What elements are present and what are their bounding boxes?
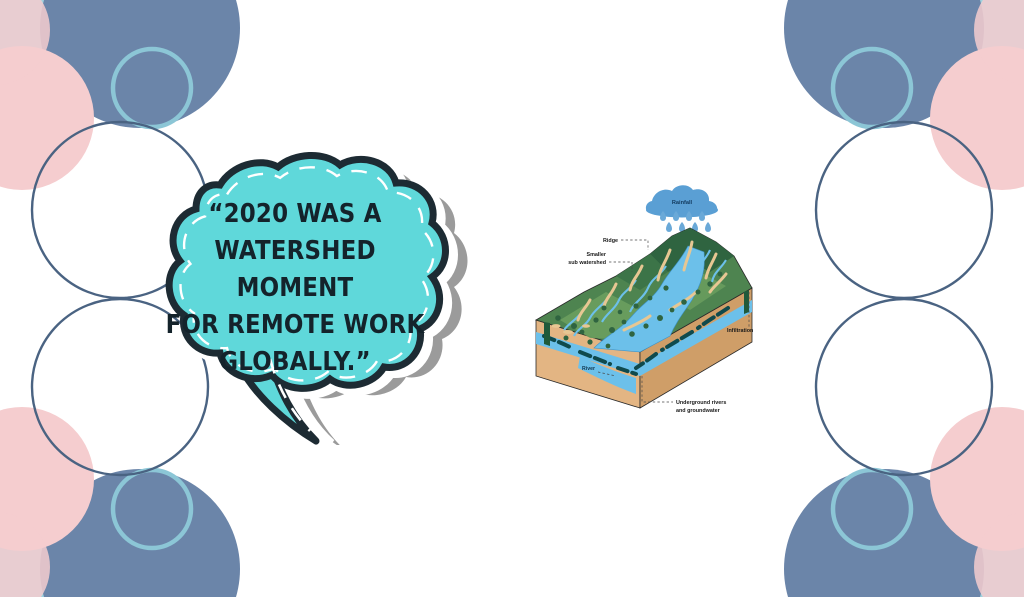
decor-circle-slate	[784, 469, 984, 597]
label-infiltration: Infiltration	[727, 328, 753, 334]
decor-circle-lightblue	[906, 0, 1024, 118]
decor-circle-pink-edge	[0, 0, 50, 85]
decor-circle-slate	[40, 0, 240, 128]
decor-circle-pink	[0, 407, 94, 551]
decor-cluster-top-right	[784, 0, 1024, 298]
leader-ridge	[621, 240, 648, 250]
decor-circle-lightblue	[0, 479, 118, 597]
label-underground-line1: Underground rivers	[676, 400, 726, 406]
slide-canvas: “2020 WAS A WATERSHED MOMENT FOR REMOTE …	[0, 0, 1024, 597]
label-underground-line2: and groundwater	[676, 408, 721, 414]
decor-ring-navy	[816, 299, 992, 475]
decor-circle-pink-edge	[974, 0, 1024, 85]
label-ridge: Ridge	[603, 238, 618, 244]
decor-cluster-bottom-right	[784, 299, 1024, 597]
decor-ring-navy	[816, 122, 992, 298]
decor-circle-pink-edge	[0, 512, 50, 597]
infiltration-column-left	[544, 322, 550, 346]
label-smaller-sub-watershed-line2: sub watershed	[568, 260, 606, 266]
decor-circle-pink	[0, 46, 94, 190]
decor-ring-lightblue	[833, 49, 911, 127]
watershed-diagram: Rainfall	[520, 180, 786, 420]
label-rainfall: Rainfall	[672, 200, 693, 206]
decor-circle-pink	[930, 46, 1024, 190]
decor-circle-pink	[930, 407, 1024, 551]
decor-ring-lightblue	[113, 49, 191, 127]
decor-ring-lightblue	[833, 470, 911, 548]
quote-text: “2020 WAS A WATERSHED MOMENT FOR REMOTE …	[165, 196, 426, 381]
decor-circle-lightblue	[906, 479, 1024, 597]
decor-circle-pink-edge	[974, 512, 1024, 597]
decor-circle-slate	[40, 469, 240, 597]
decor-circle-lightblue	[0, 0, 118, 118]
infiltration-column-right	[744, 290, 749, 314]
decor-circle-slate	[784, 0, 984, 128]
decor-ring-lightblue	[113, 470, 191, 548]
label-river: River	[582, 366, 595, 372]
label-smaller-sub-watershed-line1: Smaller	[587, 252, 607, 258]
